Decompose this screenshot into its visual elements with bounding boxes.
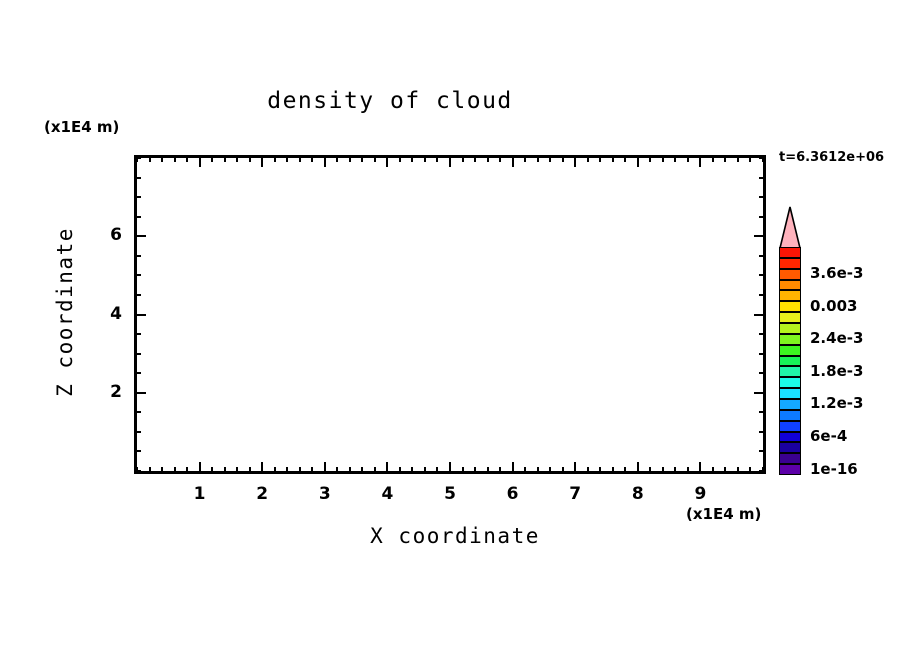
x-minor-tick-top (411, 156, 413, 162)
x-minor-tick (436, 467, 438, 473)
y-major-tick (135, 314, 146, 316)
y-minor-tick-right (759, 157, 765, 159)
x-major-tick (512, 462, 514, 473)
y-minor-tick-right (759, 274, 765, 276)
x-minor-tick-top (649, 156, 651, 162)
x-major-tick (574, 462, 576, 473)
x-major-tick (449, 462, 451, 473)
x-minor-tick (537, 467, 539, 473)
colorbar[interactable] (779, 247, 801, 475)
x-major-tick-top (324, 156, 326, 167)
x-minor-tick-top (186, 156, 188, 162)
x-minor-tick-top (349, 156, 351, 162)
y-minor-tick (135, 216, 141, 218)
y-minor-tick (135, 294, 141, 296)
x-major-tick-top (699, 156, 701, 167)
y-minor-tick-right (759, 353, 765, 355)
x-tick-label: 8 (618, 484, 658, 504)
colorbar-tick-label: 2.4e-3 (810, 329, 863, 347)
x-minor-tick-top (487, 156, 489, 162)
x-minor-tick (599, 467, 601, 473)
x-major-tick (637, 462, 639, 473)
x-minor-tick (424, 467, 426, 473)
colorbar-cell (779, 388, 801, 399)
x-minor-tick (674, 467, 676, 473)
page-title: density of cloud (0, 88, 780, 114)
colorbar-cell (779, 290, 801, 301)
x-minor-tick (374, 467, 376, 473)
x-minor-tick-top (474, 156, 476, 162)
x-minor-tick-top (462, 156, 464, 162)
x-minor-tick (299, 467, 301, 473)
colorbar-tick-label: 3.6e-3 (810, 264, 863, 282)
x-minor-tick (562, 467, 564, 473)
x-minor-tick-top (174, 156, 176, 162)
x-minor-tick-top (549, 156, 551, 162)
x-minor-tick-top (562, 156, 564, 162)
y-tick-label: 4 (82, 304, 122, 324)
y-minor-tick-right (759, 177, 765, 179)
x-minor-tick (462, 467, 464, 473)
x-minor-tick-top (399, 156, 401, 162)
y-minor-tick (135, 177, 141, 179)
x-tick-label: 4 (367, 484, 407, 504)
x-minor-tick (587, 467, 589, 473)
colorbar-cell (779, 366, 801, 377)
x-minor-tick (724, 467, 726, 473)
colorbar-cell (779, 258, 801, 269)
x-minor-tick (712, 467, 714, 473)
x-minor-tick (474, 467, 476, 473)
colorbar-over-arrow (779, 206, 801, 249)
x-minor-tick-top (161, 156, 163, 162)
x-tick-label: 7 (555, 484, 595, 504)
x-minor-tick (286, 467, 288, 473)
x-minor-tick-top (712, 156, 714, 162)
x-major-tick-top (637, 156, 639, 167)
x-minor-tick (687, 467, 689, 473)
x-tick-label: 2 (242, 484, 282, 504)
x-minor-tick-top (749, 156, 751, 162)
colorbar-tick-label: 0.003 (810, 297, 857, 315)
figure-root: density of cloud (x1E4 m) (x1E4 m) t=6.3… (0, 0, 904, 654)
y-minor-tick (135, 333, 141, 335)
x-minor-tick-top (537, 156, 539, 162)
y-minor-tick-right (759, 431, 765, 433)
colorbar-cell (779, 247, 801, 258)
x-major-tick-top (261, 156, 263, 167)
x-minor-tick (361, 467, 363, 473)
colorbar-cell (779, 442, 801, 453)
colorbar-cell (779, 432, 801, 443)
x-minor-tick (211, 467, 213, 473)
x-minor-tick-top (687, 156, 689, 162)
y-axis-title: Z coordinate (53, 202, 77, 422)
x-minor-tick (612, 467, 614, 473)
x-minor-tick (649, 467, 651, 473)
x-minor-tick-top (361, 156, 363, 162)
colorbar-cell (779, 356, 801, 367)
x-minor-tick (749, 467, 751, 473)
x-minor-tick (174, 467, 176, 473)
x-minor-tick-top (224, 156, 226, 162)
time-annotation: t=6.3612e+06 (779, 150, 884, 165)
x-minor-tick (737, 467, 739, 473)
x-major-tick-top (574, 156, 576, 167)
y-minor-tick-right (759, 294, 765, 296)
y-minor-tick (135, 255, 141, 257)
y-minor-tick (135, 431, 141, 433)
colorbar-cell (779, 312, 801, 323)
colorbar-cell (779, 464, 801, 475)
x-major-tick-top (449, 156, 451, 167)
x-minor-tick (149, 467, 151, 473)
x-tick-label: 9 (680, 484, 720, 504)
x-minor-tick-top (599, 156, 601, 162)
x-minor-tick (249, 467, 251, 473)
colorbar-cell (779, 345, 801, 356)
x-minor-tick (499, 467, 501, 473)
x-minor-tick-top (662, 156, 664, 162)
x-minor-tick-top (424, 156, 426, 162)
colorbar-cell (779, 453, 801, 464)
y-major-tick-right (754, 235, 765, 237)
x-tick-label: 5 (430, 484, 470, 504)
y-minor-tick-right (759, 470, 765, 472)
colorbar-tick-label: 1.2e-3 (810, 394, 863, 412)
y-minor-tick-right (759, 216, 765, 218)
x-minor-tick-top (149, 156, 151, 162)
colorbar-cell (779, 410, 801, 421)
y-minor-tick (135, 157, 141, 159)
x-major-tick (261, 462, 263, 473)
x-minor-tick-top (311, 156, 313, 162)
x-minor-tick (411, 467, 413, 473)
y-minor-tick (135, 470, 141, 472)
y-major-tick-right (754, 392, 765, 394)
colorbar-cell (779, 399, 801, 410)
x-minor-tick-top (436, 156, 438, 162)
x-major-tick (199, 462, 201, 473)
y-minor-tick (135, 274, 141, 276)
y-minor-tick-right (759, 333, 765, 335)
x-minor-tick-top (674, 156, 676, 162)
x-major-tick (386, 462, 388, 473)
x-minor-tick (311, 467, 313, 473)
x-tick-label: 6 (493, 484, 533, 504)
colorbar-tick-label: 6e-4 (810, 427, 847, 445)
x-minor-tick (186, 467, 188, 473)
x-axis-title: X coordinate (255, 524, 655, 548)
y-minor-tick (135, 196, 141, 198)
y-minor-tick (135, 372, 141, 374)
y-minor-tick-right (759, 450, 765, 452)
x-tick-label: 3 (305, 484, 345, 504)
y-major-tick (135, 392, 146, 394)
colorbar-cell (779, 421, 801, 432)
x-minor-tick-top (249, 156, 251, 162)
x-major-tick-top (512, 156, 514, 167)
y-minor-tick-right (759, 196, 765, 198)
x-minor-tick-top (499, 156, 501, 162)
colorbar-cell (779, 280, 801, 291)
colorbar-cell (779, 323, 801, 334)
x-minor-tick (224, 467, 226, 473)
x-major-tick (699, 462, 701, 473)
y-minor-tick (135, 353, 141, 355)
plot-frame (134, 155, 766, 474)
y-major-tick (135, 235, 146, 237)
x-minor-tick (336, 467, 338, 473)
x-minor-tick-top (612, 156, 614, 162)
x-minor-tick-top (374, 156, 376, 162)
colorbar-cell (779, 334, 801, 345)
y-minor-tick-right (759, 411, 765, 413)
x-axis-unit-label: (x1E4 m) (686, 505, 761, 523)
y-minor-tick-right (759, 372, 765, 374)
y-major-tick-right (754, 314, 765, 316)
x-minor-tick (161, 467, 163, 473)
x-minor-tick (524, 467, 526, 473)
x-minor-tick (274, 467, 276, 473)
x-major-tick (324, 462, 326, 473)
colorbar-cell (779, 301, 801, 312)
y-minor-tick (135, 450, 141, 452)
y-tick-label: 6 (82, 225, 122, 245)
x-minor-tick-top (336, 156, 338, 162)
z-axis-unit-label: (x1E4 m) (44, 118, 119, 136)
x-minor-tick-top (286, 156, 288, 162)
x-minor-tick-top (737, 156, 739, 162)
x-minor-tick-top (274, 156, 276, 162)
x-minor-tick (399, 467, 401, 473)
y-minor-tick (135, 411, 141, 413)
colorbar-cell (779, 269, 801, 280)
x-minor-tick-top (211, 156, 213, 162)
colorbar-tick-label: 1.8e-3 (810, 362, 863, 380)
x-minor-tick-top (587, 156, 589, 162)
x-minor-tick-top (236, 156, 238, 162)
x-minor-tick-top (724, 156, 726, 162)
colorbar-tick-label: 1e-16 (810, 460, 858, 478)
x-minor-tick (624, 467, 626, 473)
x-minor-tick (549, 467, 551, 473)
y-minor-tick-right (759, 255, 765, 257)
x-minor-tick (487, 467, 489, 473)
y-tick-label: 2 (82, 382, 122, 402)
x-minor-tick-top (524, 156, 526, 162)
x-minor-tick (662, 467, 664, 473)
x-major-tick-top (199, 156, 201, 167)
x-minor-tick-top (299, 156, 301, 162)
x-minor-tick-top (624, 156, 626, 162)
x-minor-tick (349, 467, 351, 473)
x-tick-label: 1 (180, 484, 220, 504)
x-major-tick-top (386, 156, 388, 167)
x-minor-tick (236, 467, 238, 473)
colorbar-cell (779, 377, 801, 388)
